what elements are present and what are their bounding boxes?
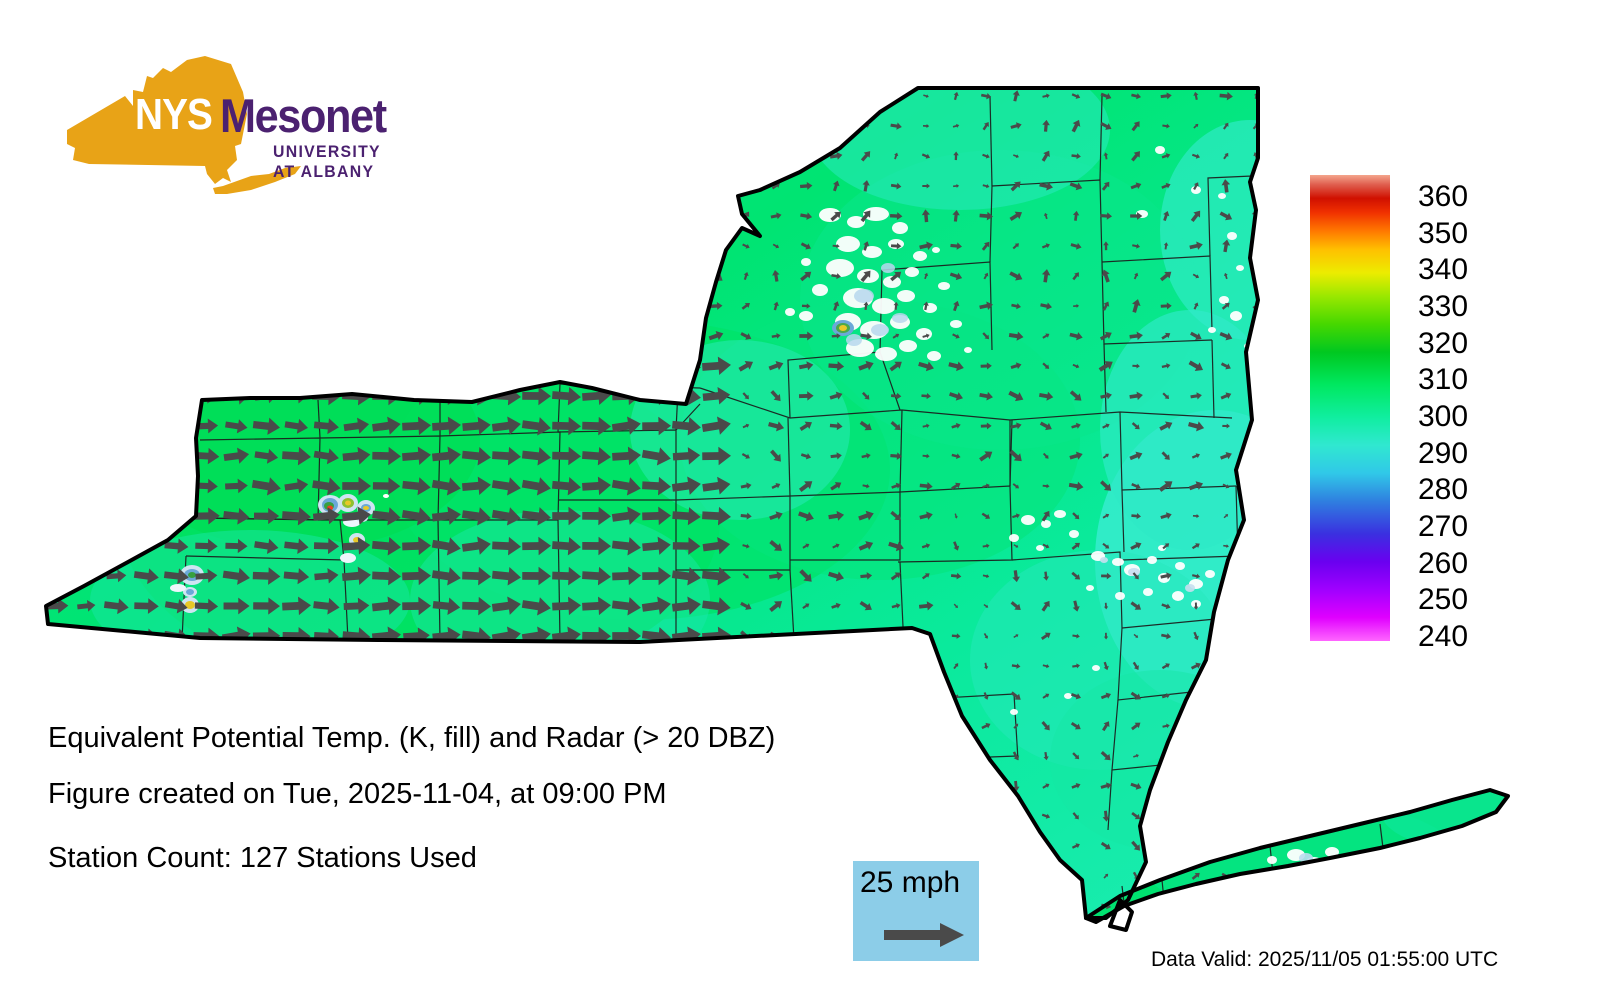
wind-vector-arrow [469,301,483,311]
wind-vector-arrow [707,870,725,883]
wind-vector-arrow [953,813,959,818]
wind-vector-arrow [283,656,310,675]
wind-vector-arrow [225,357,249,374]
wind-vector-arrow [1162,782,1170,790]
wind-vector-arrow [888,691,904,701]
wind-vector-arrow [258,269,274,283]
wind-vector-arrow [1222,691,1230,702]
wind-vector-arrow [112,332,121,340]
wind-vector-arrow [672,656,702,676]
wind-vector-arrow [857,750,875,762]
wind-vector-arrow [163,357,190,374]
wind-vector-arrow [77,539,96,552]
wind-vector-arrow [441,182,452,191]
wind-vector-arrow [378,208,394,223]
wind-vector-arrow [468,210,486,223]
wind-vector-arrow [1220,899,1232,913]
wind-vector-arrow [168,810,184,823]
wind-vector-arrow [224,688,249,705]
wind-vector-arrow [104,687,128,705]
wind-vector-arrow [531,243,541,250]
wind-vector-arrow [439,811,454,822]
wind-vector-arrow [678,780,695,792]
wind-vector-arrow [411,271,421,280]
wind-vector-arrow [500,811,513,821]
wind-vector-arrow [228,89,245,104]
wind-vector-arrow [286,899,306,914]
wind-vector-arrow [889,781,903,792]
wind-vector-arrow [551,655,581,676]
wind-vector-arrow [412,182,421,191]
wind-vector-arrow [231,181,242,192]
wind-vector-arrow [167,899,185,914]
wind-vector-arrow [48,239,64,254]
wind-vector-arrow [648,118,665,133]
colorbar-tick-270: 270 [1418,512,1468,542]
wind-vector-arrow [139,299,153,312]
wind-vector-arrow [889,751,903,762]
wind-vector-arrow [1163,814,1169,818]
wind-vector-arrow [261,93,271,100]
wind-vector-arrow [164,418,188,434]
wind-vector-arrow [172,123,179,128]
wind-vector-arrow [828,780,844,792]
wind-vector-arrow [1041,870,1051,881]
wind-vector-arrow [349,900,363,912]
wind-vector-arrow [952,751,960,760]
wind-vector-arrow [622,272,631,280]
data-valid-timestamp: Data Valid: 2025/11/05 01:55:00 UTC [1151,948,1498,972]
wind-vector-arrow [1220,811,1233,822]
wind-vector-arrow [76,629,98,644]
wind-vector-arrow [981,813,991,820]
wind-vector-arrow [1251,482,1262,490]
wind-vector-arrow [590,331,602,340]
wind-vector-arrow [500,121,513,130]
wind-vector-arrow [770,842,781,850]
wind-vector-arrow [410,241,421,252]
wind-vector-arrow [498,270,515,283]
wind-vector-arrow [172,272,181,280]
wind-vector-arrow [797,810,815,822]
wind-vector-arrow [348,89,365,103]
wind-vector-arrow [228,810,244,822]
wind-vector-arrow [472,272,481,279]
wind-vector-arrow [76,479,96,493]
wind-vector-arrow [560,92,572,101]
wind-vector-arrow [199,901,213,911]
wind-vector-arrow [111,212,122,220]
wind-vector-arrow [560,272,572,281]
wind-vector-arrow [377,268,395,284]
wind-vector-arrow [1252,631,1261,641]
wind-vector-arrow [254,687,280,706]
wind-vector-arrow [681,152,691,160]
wind-vector-arrow [231,332,241,339]
wind-vector-arrow [739,691,754,702]
wind-vector-arrow [858,719,875,732]
wind-vector-arrow [562,152,571,160]
wind-vector-arrow [741,842,752,850]
wind-vector-arrow [521,685,552,707]
wind-vector-arrow [622,302,631,309]
wind-vector-arrow [171,242,182,249]
wind-vector-arrow [431,655,462,677]
wind-vector-arrow [800,690,812,702]
wind-vector-arrow [589,811,604,821]
wind-vector-arrow [46,629,67,644]
wind-vector-arrow [642,686,672,706]
wind-vector-arrow [258,330,275,342]
wind-vector-arrow [441,93,451,100]
wind-vector-arrow [408,149,424,163]
wind-vector-arrow [1070,901,1083,911]
wind-vector-arrow [1250,659,1263,673]
wind-vector-arrow [1223,722,1229,730]
wind-vector-arrow [828,689,845,702]
wind-vector-arrow [199,241,213,252]
wind-vector-arrow [952,723,960,728]
wind-vector-arrow [440,241,453,250]
wind-vector-arrow [81,212,91,221]
wind-vector-arrow [521,654,552,677]
wind-vector-arrow [112,273,121,279]
wind-vector-arrow [108,899,124,912]
wind-vector-arrow [171,181,182,190]
wind-vector-arrow [562,212,571,219]
wind-vector-arrow [798,870,815,883]
wind-vector-arrow [372,687,401,706]
wind-vector-arrow [110,181,121,191]
wind-vector-arrow [798,899,814,913]
wind-vector-arrow [138,179,155,194]
wind-vector-arrow [681,271,692,280]
wind-vector-arrow [622,213,630,218]
wind-vector-arrow [741,182,751,189]
wind-vector-arrow [192,656,221,676]
wind-vector-arrow [711,242,722,251]
wind-vector-arrow [342,656,371,675]
wind-vector-arrow [81,123,91,130]
wind-vector-arrow [168,329,185,344]
wind-vector-arrow [318,148,334,163]
wind-vector-arrow [377,329,395,344]
colorbar-tick-280: 280 [1418,475,1468,505]
wind-vector-arrow [318,269,334,283]
wind-vector-arrow [709,901,724,911]
colorbar-tick-350: 350 [1418,219,1468,249]
wind-vector-arrow [140,272,152,281]
wind-vector-arrow [502,243,511,249]
wind-vector-arrow [1222,632,1231,641]
wind-vector-arrow [619,841,633,852]
wind-vector-arrow [136,448,157,463]
wind-vector-arrow [703,687,730,705]
wind-vector-arrow [319,240,334,252]
wind-vector-arrow [78,900,95,912]
wind-vector-arrow [589,269,604,284]
wind-vector-arrow [379,90,395,101]
wind-vector-arrow [981,842,991,851]
wind-vector-arrow [828,901,844,912]
wind-vector-arrow [591,121,601,132]
wind-vector-arrow [47,390,65,402]
wind-vector-arrow [106,449,126,464]
wind-vector-arrow [47,509,66,522]
wind-vector-arrow [321,212,331,221]
wind-vector-arrow [321,812,332,820]
colorbar-tick-340: 340 [1418,255,1468,285]
wind-vector-arrow [768,781,784,792]
figure-created-timestamp: Figure created on Tue, 2025-11-04, at 09… [48,778,667,811]
wind-vector-arrow [52,212,61,220]
wind-vector-arrow [108,148,125,165]
wind-vector-arrow [648,208,665,225]
wind-vector-arrow [830,812,842,820]
wind-vector-arrow [440,152,452,161]
wind-vector-arrow [44,417,68,434]
wind-vector-arrow [431,685,462,707]
wind-vector-arrow [532,182,541,190]
wind-vector-arrow [349,149,363,162]
wind-vector-arrow [292,272,301,279]
wind-vector-arrow [1161,901,1172,912]
theta-e-colorbar [1310,175,1390,641]
wind-vector-arrow [889,840,904,851]
wind-vector-arrow [770,660,781,672]
wind-vector-arrow [589,211,603,222]
wind-vector-arrow [313,687,340,706]
wind-vector-arrow [982,902,991,910]
wind-vector-arrow [701,655,732,676]
wind-vector-arrow [1252,454,1259,459]
wind-vector-arrow [562,182,571,190]
wind-vector-arrow [168,300,185,313]
wind-vector-arrow [461,655,492,677]
wind-vector-arrow [861,842,872,850]
wind-vector-arrow [74,417,99,435]
wind-vector-arrow [863,94,870,99]
wind-vector-arrow [892,632,901,639]
wind-vector-arrow [617,148,636,164]
wind-vector-arrow [552,687,581,706]
wind-vector-arrow [799,89,813,102]
wind-vector-arrow [709,89,723,103]
wind-vector-arrow [371,355,402,376]
wind-vector-arrow [49,149,64,164]
wind-vector-arrow [738,899,755,912]
wind-vector-arrow [438,299,454,314]
wind-vector-arrow [711,151,722,161]
wind-vector-arrow [1220,750,1233,763]
wind-vector-arrow [500,211,512,221]
wind-vector-arrow [1192,692,1200,701]
wind-vector-arrow [172,92,181,100]
wind-vector-arrow [888,660,905,672]
wind-vector-arrow [648,149,665,162]
wind-vector-arrow [800,751,813,761]
wind-vector-arrow [461,685,492,707]
wind-vector-arrow [409,91,423,101]
wind-vector-arrow [468,119,484,132]
wind-vector-arrow [105,508,128,525]
wind-vector-arrow [681,812,692,820]
wind-vector-arrow [620,91,632,101]
wind-vector-arrow [589,901,604,911]
wind-vector-arrow [557,327,576,345]
wind-vector-arrow [110,91,122,100]
wind-vector-arrow [1251,362,1261,369]
wind-vector-arrow [619,181,633,191]
wind-vector-arrow [348,809,365,823]
wind-vector-arrow [135,418,158,433]
wind-vector-arrow [1013,812,1020,820]
wind-vector-arrow [589,241,604,252]
wind-vector-arrow [378,118,394,134]
wind-vector-arrow [133,687,160,706]
wind-vector-arrow [651,241,662,250]
wind-vector-arrow [78,239,94,253]
wind-vector-arrow [680,121,693,131]
wind-vector-arrow [652,272,661,281]
wind-vector-arrow [1254,603,1258,609]
wind-vector-arrow [168,210,184,223]
wind-vector-arrow [106,419,128,433]
wind-vector-arrow [529,120,544,132]
wind-vector-arrow [561,902,572,909]
wind-vector-arrow [492,686,522,706]
wind-vector-arrow [134,477,159,496]
wind-vector-arrow [138,811,154,822]
wind-vector-arrow [164,448,188,464]
wind-vector-arrow [44,688,68,704]
wind-vector-arrow [311,355,342,377]
wind-vector-arrow [105,389,127,404]
wind-vector-arrow [680,241,692,250]
wind-vector-arrow [290,152,302,160]
wind-vector-arrow [801,119,812,133]
wind-vector-arrow [799,781,813,790]
wind-vector-arrow [1251,332,1261,340]
wind-vector-arrow [980,871,992,881]
wind-vector-arrow [472,182,480,190]
wind-vector-arrow [1193,814,1200,819]
wind-vector-arrow [49,91,64,101]
wind-vector-arrow [650,331,663,341]
wind-vector-arrow [1192,902,1200,910]
wind-vector-arrow [164,507,190,524]
wind-vector-arrow [140,330,153,342]
wind-vector-arrow [82,152,91,161]
map-canvas[interactable] [0,0,1300,960]
wind-vector-arrow [531,152,542,159]
wind-vector-arrow [194,688,218,705]
wind-vector-arrow [829,871,843,882]
wind-vector-arrow [408,810,425,821]
wind-vector-arrow [709,811,723,820]
colorbar-tick-330: 330 [1418,292,1468,322]
wind-vector-arrow [1192,841,1201,850]
wind-vector-arrow [589,149,603,162]
wind-vector-arrow [677,900,695,912]
wind-vector-arrow [768,870,785,883]
wind-vector-arrow [110,120,122,132]
wind-vector-arrow [502,182,511,191]
wind-vector-arrow [225,658,248,674]
wind-vector-arrow [432,356,461,375]
wind-vector-arrow [311,655,341,677]
wind-vector-arrow [199,181,214,192]
wind-vector-arrow [292,182,301,191]
wind-vector-arrow [619,900,633,911]
wind-vector-arrow [531,271,542,281]
wind-vector-arrow [711,782,722,791]
wind-vector-arrow [351,211,362,220]
wind-vector-arrow [472,242,481,250]
wind-vector-arrow [321,182,332,190]
wind-vector-arrow [1163,842,1169,850]
wind-vector-arrow [1193,722,1198,730]
wind-vector-arrow [373,657,401,676]
wind-vector-arrow [560,871,573,881]
wind-vector-arrow [51,272,62,280]
wind-vector-arrow [46,479,67,493]
wind-vector-arrow [403,687,431,706]
wind-vector-arrow [739,660,753,672]
colorbar-tick-300: 300 [1418,402,1468,432]
wind-vector-arrow [76,689,98,704]
wind-vector-arrow [200,300,213,312]
wind-vector-arrow [48,299,65,313]
wind-vector-arrow [530,301,542,311]
wind-vector-arrow [134,508,159,524]
wind-vector-arrow [491,355,522,377]
wind-vector-arrow [319,299,333,314]
wind-vector-arrow [78,810,94,822]
wind-vector-arrow [767,900,785,912]
station-count-label: Station Count: 127 Stations Used [48,842,477,875]
wind-vector-arrow [411,302,422,310]
wind-vector-arrow [350,241,363,250]
wind-vector-arrow [680,91,692,100]
wind-vector-arrow [199,90,213,102]
wind-vector-arrow [140,240,153,252]
wind-vector-arrow [254,657,279,675]
wind-vector-arrow [462,356,491,375]
wind-vector-arrow [558,238,574,253]
wind-vector-arrow [952,782,961,790]
wind-vector-arrow [499,150,513,163]
wind-vector-arrow [317,900,335,913]
wind-vector-arrow [617,810,636,823]
wind-vector-arrow [561,301,572,311]
wind-vector-arrow [800,721,813,731]
wind-vector-arrow [1250,811,1261,822]
wind-vector-arrow [471,903,481,909]
wind-vector-arrow [859,781,874,792]
wind-vector-arrow [378,810,395,821]
wind-vector-arrow [378,178,395,195]
wind-vector-arrow [920,781,933,791]
wind-vector-arrow [171,152,182,159]
wind-vector-arrow [499,901,513,910]
wind-vector-arrow [671,684,702,707]
wind-vector-arrow [200,210,212,221]
wind-vector-arrow [441,332,451,340]
wind-vector-arrow [228,148,244,163]
wind-vector-arrow [499,91,513,102]
wind-vector-arrow [917,687,936,704]
